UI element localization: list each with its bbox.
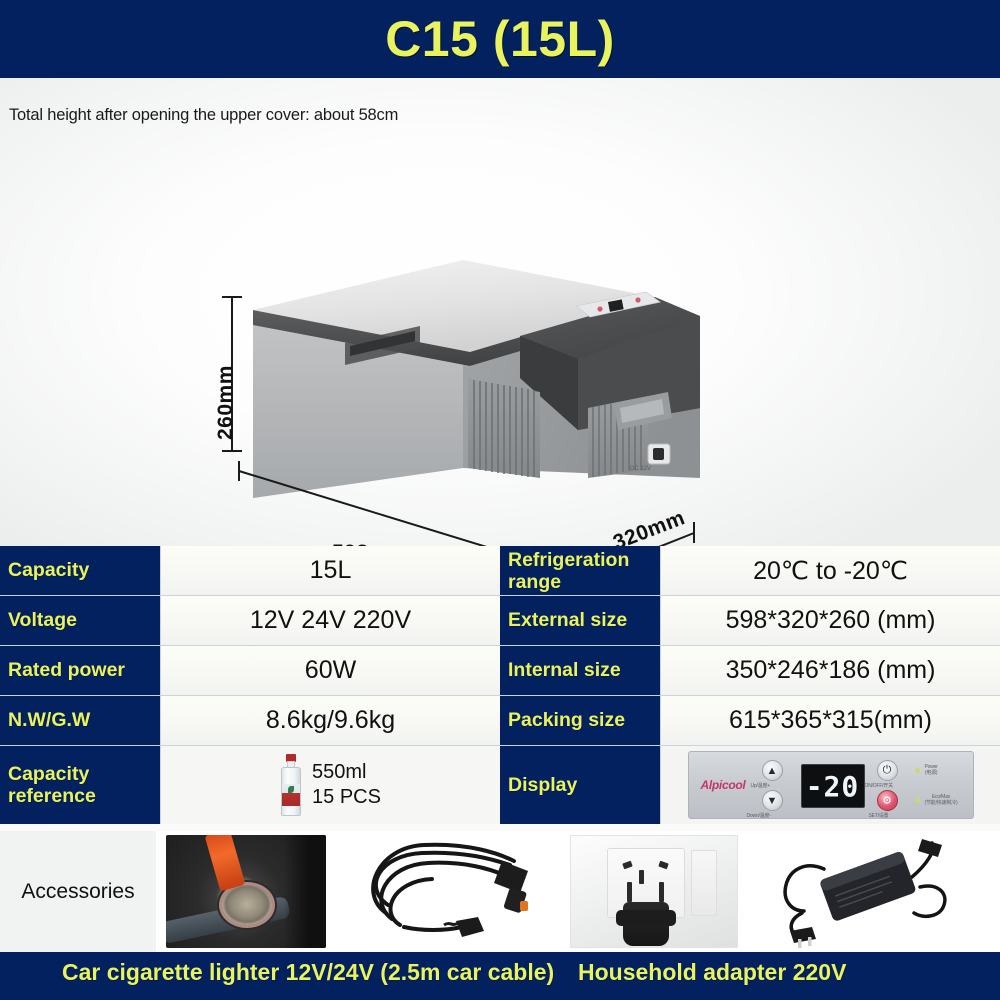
caption-household-adapter: Household adapter 220V <box>578 959 846 986</box>
svg-text:DC 12V: DC 12V <box>630 466 651 472</box>
down-button-caption: Down/温度- <box>747 813 771 819</box>
settings-icon: ⚙ <box>877 790 898 811</box>
spec-label-external-size: External size <box>500 596 660 645</box>
eco-max-indicator-label: Eco/Max(节能/快速制冷) <box>925 794 958 806</box>
spec-label-packing-size: Packing size <box>500 696 660 745</box>
power-indicator-label: Power(电源) <box>925 764 938 776</box>
brand-logo: Alpicool <box>701 778 746 792</box>
table-row: Rated power 60W <box>0 646 500 696</box>
car-socket-photo <box>166 835 326 948</box>
spec-value-capacity-reference: 550ml 15 PCS <box>160 746 500 824</box>
power-led-icon <box>915 768 920 773</box>
car-cable-photo <box>352 835 542 948</box>
product-illustration: DC 12V <box>0 78 1000 546</box>
accessories-label-cell: Accessories <box>0 831 156 952</box>
spec-value-rated-power: 60W <box>160 646 500 695</box>
spec-value-packing-size: 615*365*315(mm) <box>660 696 1000 745</box>
table-row: External size 598*320*260 (mm) <box>500 596 1000 646</box>
fridge-drawing: DC 12V <box>0 78 1000 546</box>
spec-value-capacity: 15L <box>160 546 500 595</box>
set-button-caption: SET/设置 <box>869 813 889 819</box>
capacity-reference-count: 15 PCS <box>312 785 381 810</box>
spec-label-capacity: Capacity <box>0 546 160 595</box>
spec-value-refrigeration-range: 20℃ to -20℃ <box>660 546 1000 595</box>
spec-label-net-gross-weight: N.W/G.W <box>0 696 160 745</box>
up-arrow-icon: ▲ <box>762 760 783 781</box>
spec-label-display: Display <box>500 746 660 824</box>
spec-value-voltage: 12V 24V 220V <box>160 596 500 645</box>
table-row: Voltage 12V 24V 220V <box>0 596 500 646</box>
capacity-reference-volume: 550ml <box>312 760 381 785</box>
spec-column-right: Refrigeration range 20℃ to -20℃ External… <box>500 546 1000 831</box>
control-panel-image: Alpicool ▲ Up/温度+ ▼ Down/温度- ⏻ ON/OFF/开关… <box>688 751 974 819</box>
water-bottle-icon <box>280 754 302 816</box>
spec-value-external-size: 598*320*260 (mm) <box>660 596 1000 645</box>
spec-column-left: Capacity 15L Voltage 12V 24V 220V Rated … <box>0 546 500 831</box>
accessories-images <box>156 831 1000 952</box>
cable-drawing <box>352 835 542 948</box>
spec-value-internal-size: 350*246*186 (mm) <box>660 646 1000 695</box>
spec-label-voltage: Voltage <box>0 596 160 645</box>
spec-label-refrigeration-range: Refrigeration range <box>500 546 660 595</box>
title-bar: C15 (15L) <box>0 0 1000 78</box>
power-button-caption: ON/OFF/开关 <box>865 783 893 789</box>
table-row: Internal size 350*246*186 (mm) <box>500 646 1000 696</box>
accessories-caption-bar: Car cigarette lighter 12V/24V (2.5m car … <box>0 952 1000 1000</box>
spec-table: Capacity 15L Voltage 12V 24V 220V Rated … <box>0 546 1000 831</box>
table-row: Refrigeration range 20℃ to -20℃ <box>500 546 1000 596</box>
product-hero: Total height after opening the upper cov… <box>0 78 1000 546</box>
adapter-drawing <box>762 835 962 948</box>
eco-max-led-icon <box>915 798 920 803</box>
power-icon: ⏻ <box>877 760 898 781</box>
wall-outlet-photo <box>570 835 738 948</box>
spec-value-display: Alpicool ▲ Up/温度+ ▼ Down/温度- ⏻ ON/OFF/开关… <box>660 746 1000 824</box>
table-row: Capacity 15L <box>0 546 500 596</box>
spec-label-capacity-reference: Capacity reference <box>0 746 160 824</box>
caption-car-lighter: Car cigarette lighter 12V/24V (2.5m car … <box>62 959 554 986</box>
accessories-label: Accessories <box>21 880 134 904</box>
power-adapter-photo <box>762 835 962 948</box>
spec-value-net-gross-weight: 8.6kg/9.6kg <box>160 696 500 745</box>
table-row: Packing size 615*365*315(mm) <box>500 696 1000 746</box>
accessories-row: Accessories <box>0 831 1000 952</box>
up-button-caption: Up/温度+ <box>751 783 771 789</box>
spec-label-internal-size: Internal size <box>500 646 660 695</box>
spec-label-rated-power: Rated power <box>0 646 160 695</box>
product-spec-page: C15 (15L) Total height after opening the… <box>0 0 1000 1000</box>
table-row: N.W/G.W 8.6kg/9.6kg <box>0 696 500 746</box>
temperature-readout: -20 <box>801 764 865 808</box>
table-row: Display Alpicool ▲ Up/温度+ ▼ Down/温度- ⏻ O… <box>500 746 1000 824</box>
page-title: C15 (15L) <box>0 8 1000 70</box>
down-arrow-icon: ▼ <box>762 790 783 811</box>
dimension-height-label: 260mm <box>214 365 238 440</box>
table-row: Capacity reference 550ml 15 PCS <box>0 746 500 824</box>
